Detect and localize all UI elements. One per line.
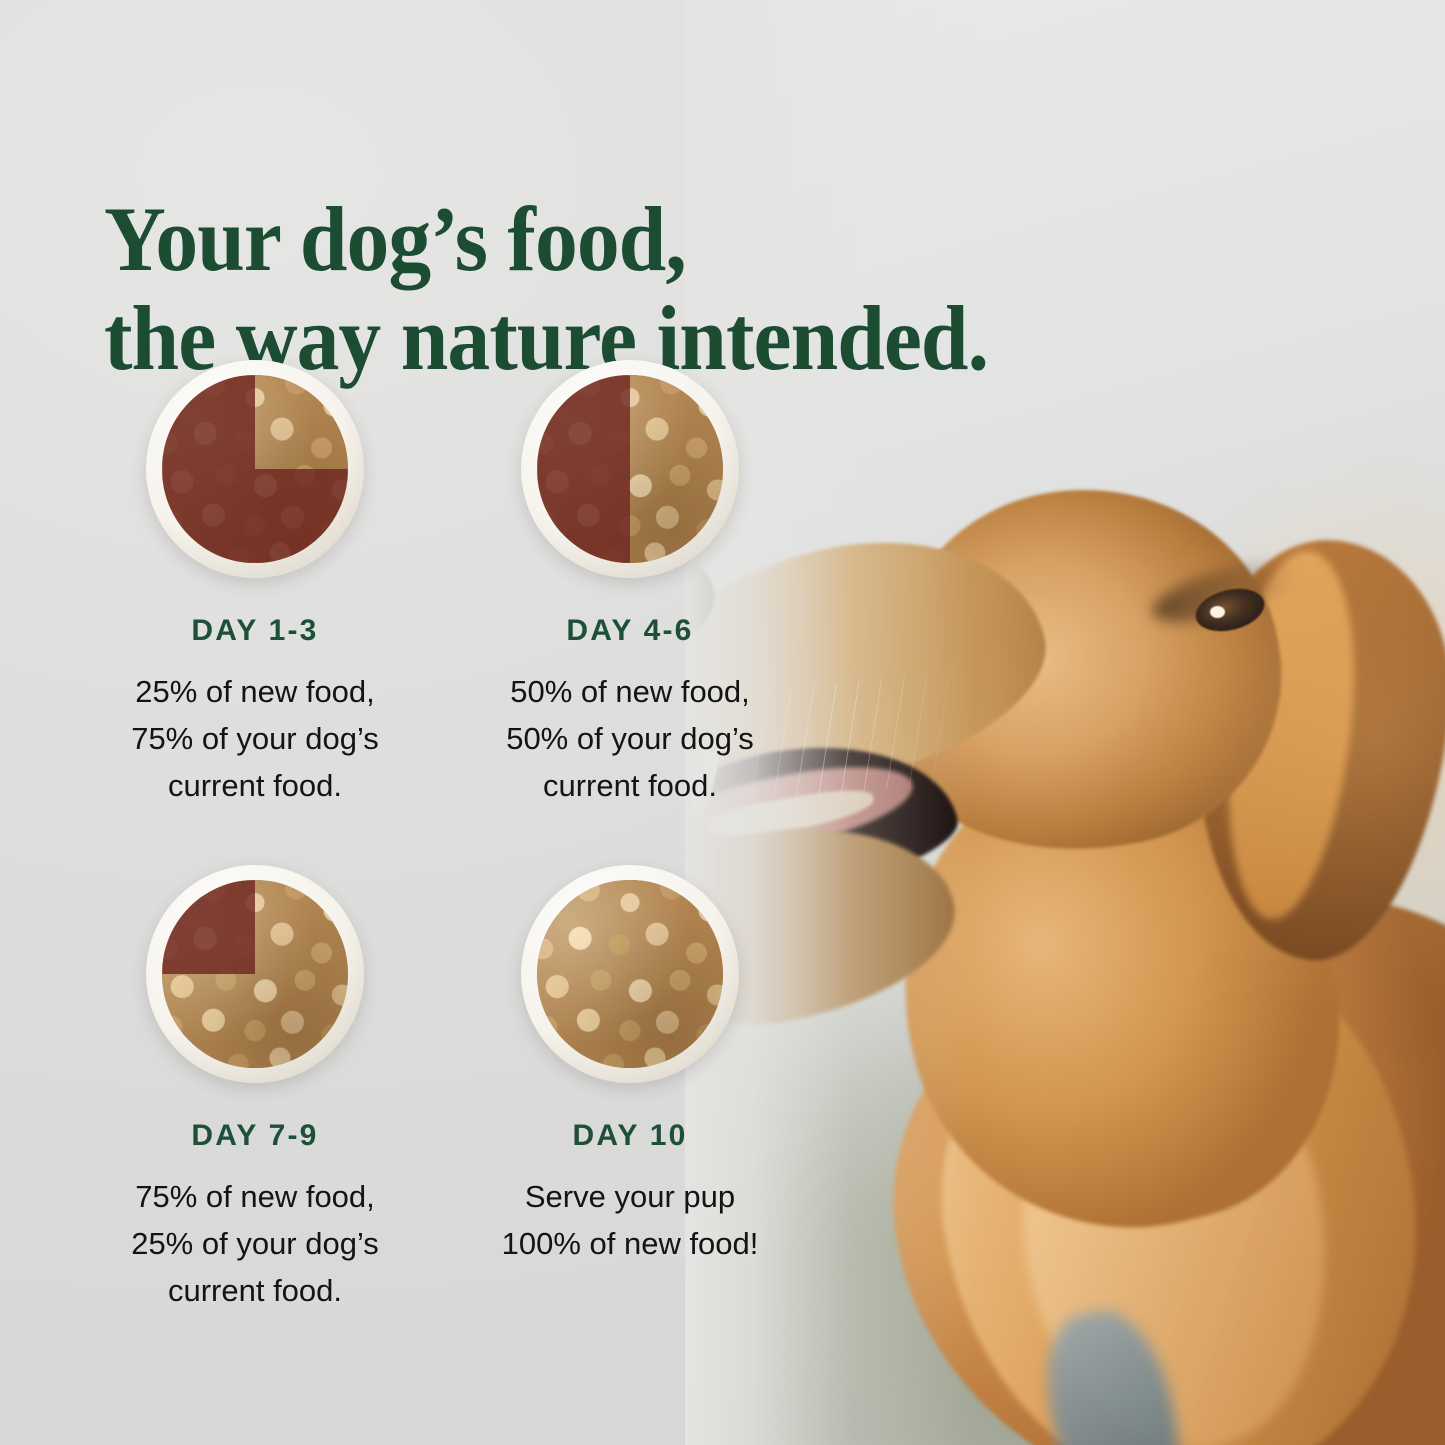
headline-line-1: Your dog’s food, [104, 188, 686, 290]
desc-line: 50% of your dog’s [435, 715, 825, 762]
bowl-graphic [521, 865, 739, 1083]
new-food-kibble [537, 880, 722, 1067]
step-day-4-6: DAY 4-6 50% of new food, 50% of your dog… [435, 360, 825, 809]
page-title: Your dog’s food, the way nature intended… [104, 190, 1015, 389]
day-label: DAY 1-3 [60, 614, 450, 648]
step-description: Serve your pup 100% of new food! [435, 1173, 825, 1267]
step-description: 75% of new food, 25% of your dog’s curre… [60, 1173, 450, 1314]
desc-line: 75% of your dog’s [60, 715, 450, 762]
transition-guide-graphic: Your dog’s food, the way nature intended… [0, 0, 1445, 1445]
desc-line: 100% of new food! [435, 1220, 825, 1267]
bowl-interior [162, 880, 347, 1067]
bowl-graphic [146, 865, 364, 1083]
day-label: DAY 4-6 [435, 614, 825, 648]
bowl-day-10 [521, 865, 739, 1083]
desc-line: current food. [435, 762, 825, 809]
day-label: DAY 7-9 [60, 1119, 450, 1153]
bowl-interior [162, 375, 347, 562]
bowl-day-7-9 [146, 865, 364, 1083]
bowl-day-1-3 [146, 360, 364, 578]
desc-line: 25% of your dog’s [60, 1220, 450, 1267]
desc-line: 75% of new food, [60, 1173, 450, 1220]
bowl-graphic [521, 360, 739, 578]
desc-line: 50% of new food, [435, 668, 825, 715]
desc-line: 25% of new food, [60, 668, 450, 715]
step-description: 50% of new food, 50% of your dog’s curre… [435, 668, 825, 809]
bowl-interior [537, 375, 722, 562]
desc-line: current food. [60, 762, 450, 809]
step-day-7-9: DAY 7-9 75% of new food, 25% of your dog… [60, 865, 450, 1314]
step-description: 25% of new food, 75% of your dog’s curre… [60, 668, 450, 809]
bowl-interior [537, 880, 722, 1067]
step-day-1-3: DAY 1-3 25% of new food, 75% of your dog… [60, 360, 450, 809]
bowl-graphic [146, 360, 364, 578]
day-label: DAY 10 [435, 1119, 825, 1153]
bowl-day-4-6 [521, 360, 739, 578]
step-day-10: DAY 10 Serve your pup 100% of new food! [435, 865, 825, 1267]
desc-line: current food. [60, 1267, 450, 1314]
desc-line: Serve your pup [435, 1173, 825, 1220]
